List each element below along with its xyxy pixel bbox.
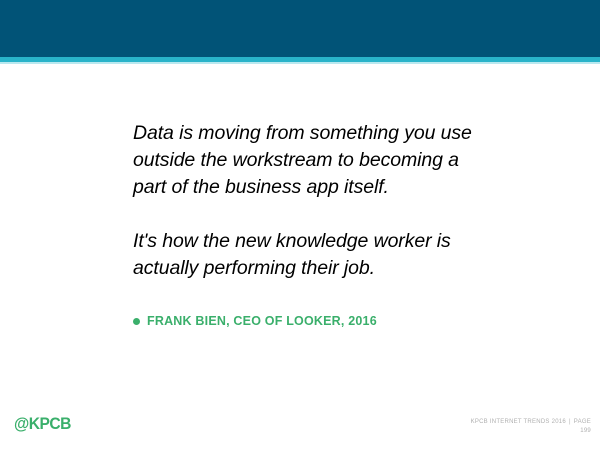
header-accent-line-soft: [0, 62, 600, 64]
attribution: FRANK BIEN, CEO OF LOOKER, 2016: [133, 314, 533, 328]
deck-title: KPCB INTERNET TRENDS 2016: [471, 419, 566, 425]
attribution-text: FRANK BIEN, CEO OF LOOKER, 2016: [147, 314, 377, 328]
footer-meta: KPCB INTERNET TRENDS 2016|PAGE 199: [471, 418, 591, 436]
header-band: [0, 0, 600, 57]
footer-meta-line: KPCB INTERNET TRENDS 2016|PAGE: [471, 418, 591, 427]
bullet-icon: [133, 318, 140, 325]
quote-paragraph-1: Data is moving from something you use ou…: [133, 120, 493, 201]
slide-canvas: Data is moving from something you use ou…: [0, 0, 600, 450]
footer-separator: |: [566, 419, 574, 425]
page-label: PAGE: [574, 419, 591, 425]
kpcb-logo: @KPCB: [14, 414, 71, 434]
page-number: 199: [471, 427, 591, 436]
quote-content: Data is moving from something you use ou…: [133, 120, 533, 328]
quote-paragraph-2: It's how the new knowledge worker is act…: [133, 228, 493, 282]
